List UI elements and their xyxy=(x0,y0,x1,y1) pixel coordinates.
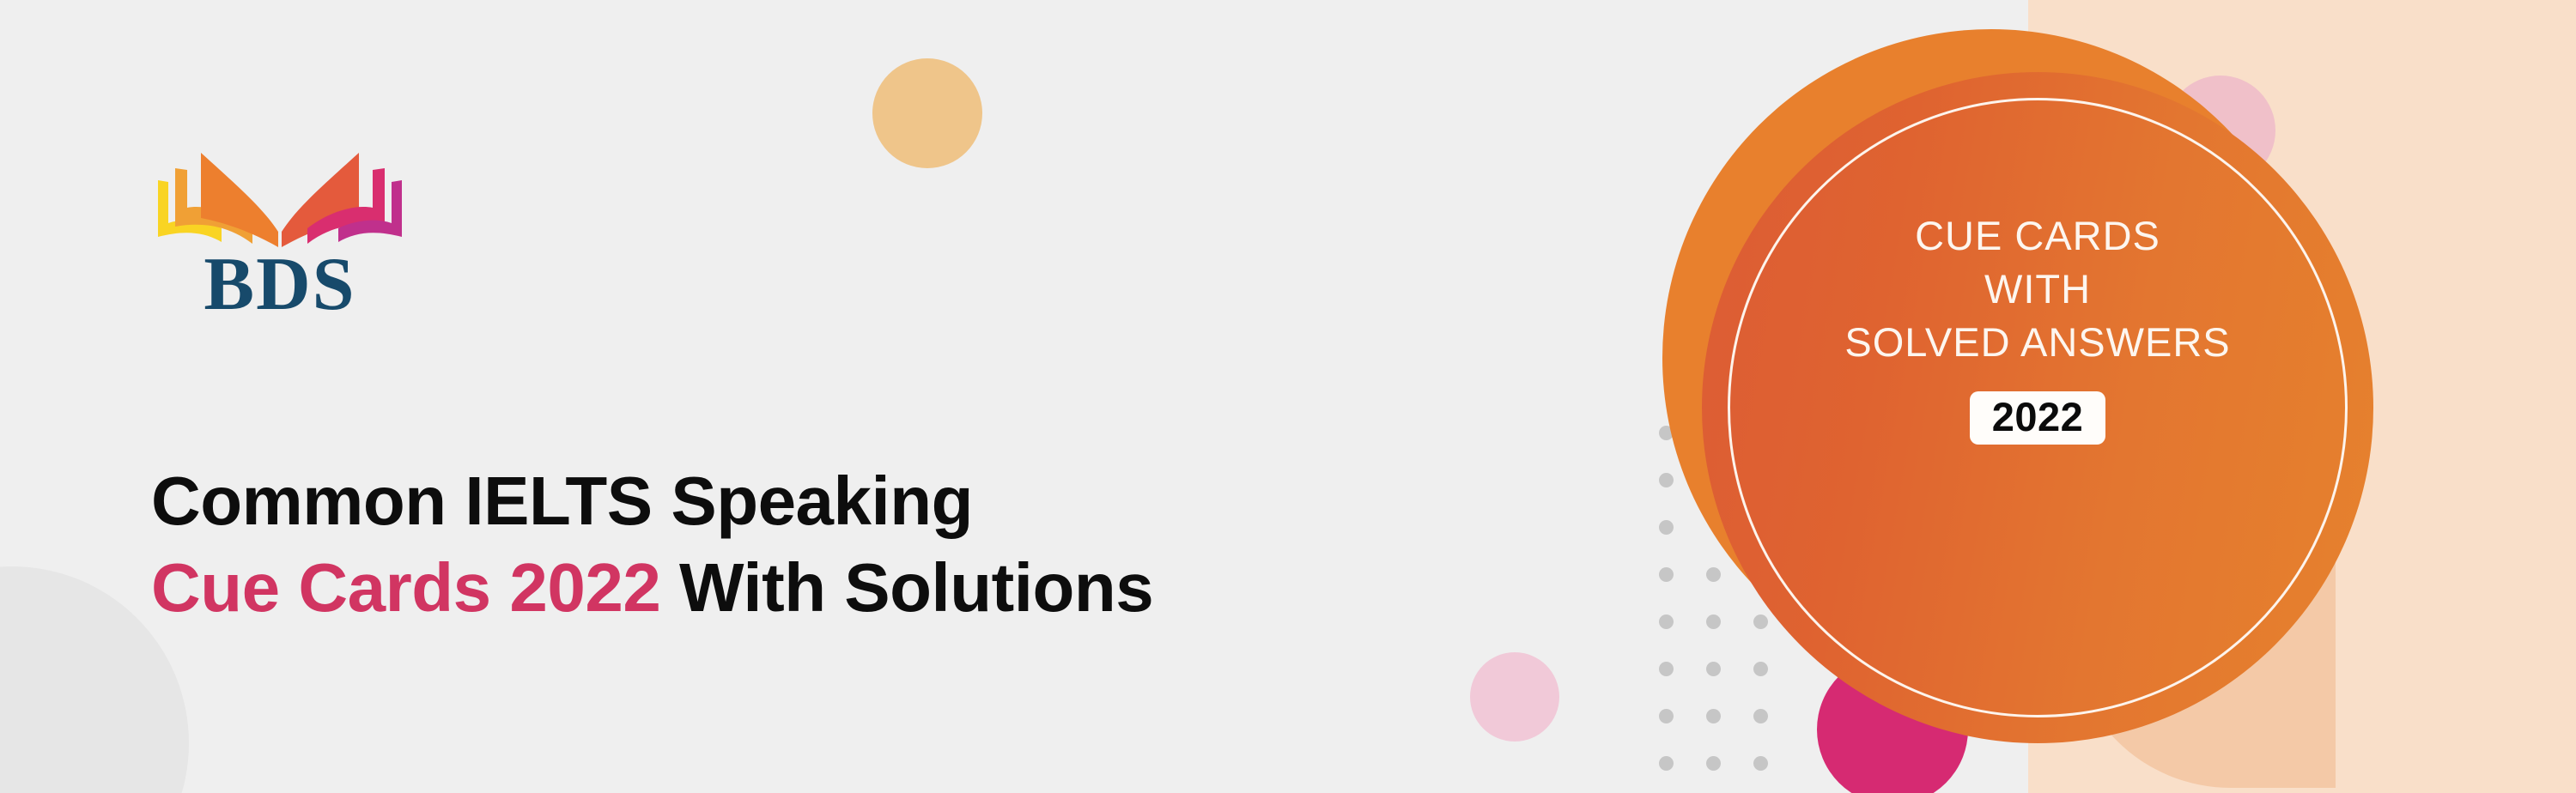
badge-year-box: 2022 xyxy=(1970,391,2106,445)
headline-line-1: Common IELTS Speaking xyxy=(151,458,1525,545)
headline-block: Common IELTS Speaking Cue Cards 2022 Wit… xyxy=(151,458,1525,632)
dot xyxy=(1706,756,1721,771)
headline-line-2: Cue Cards 2022 With Solutions xyxy=(151,545,1525,632)
logo-wordmark: BDS xyxy=(151,247,409,323)
dot xyxy=(1753,756,1768,771)
badge-line-3: SOLVED ANSWERS xyxy=(1844,316,2230,369)
dot xyxy=(1659,756,1674,771)
headline-highlight: Cue Cards 2022 xyxy=(151,549,660,626)
badge-line-1: CUE CARDS xyxy=(1915,209,2160,263)
open-book-icon xyxy=(151,144,409,247)
badge-line-2: WITH xyxy=(1984,263,2091,316)
headline-line-2-rest: With Solutions xyxy=(660,549,1153,626)
brand-logo[interactable]: BDS xyxy=(151,144,409,350)
tan-circle-decoration xyxy=(872,58,982,168)
badge-text-block: CUE CARDS WITH SOLVED ANSWERS 2022 xyxy=(1728,98,2348,717)
pink-circle-decoration-left xyxy=(1470,652,1559,742)
badge-year-label: 2022 xyxy=(1992,394,2084,439)
cue-cards-badge: CUE CARDS WITH SOLVED ANSWERS 2022 xyxy=(1662,29,2377,743)
ielts-cue-cards-banner: CUE CARDS WITH SOLVED ANSWERS 2022 BDS xyxy=(0,0,2576,793)
